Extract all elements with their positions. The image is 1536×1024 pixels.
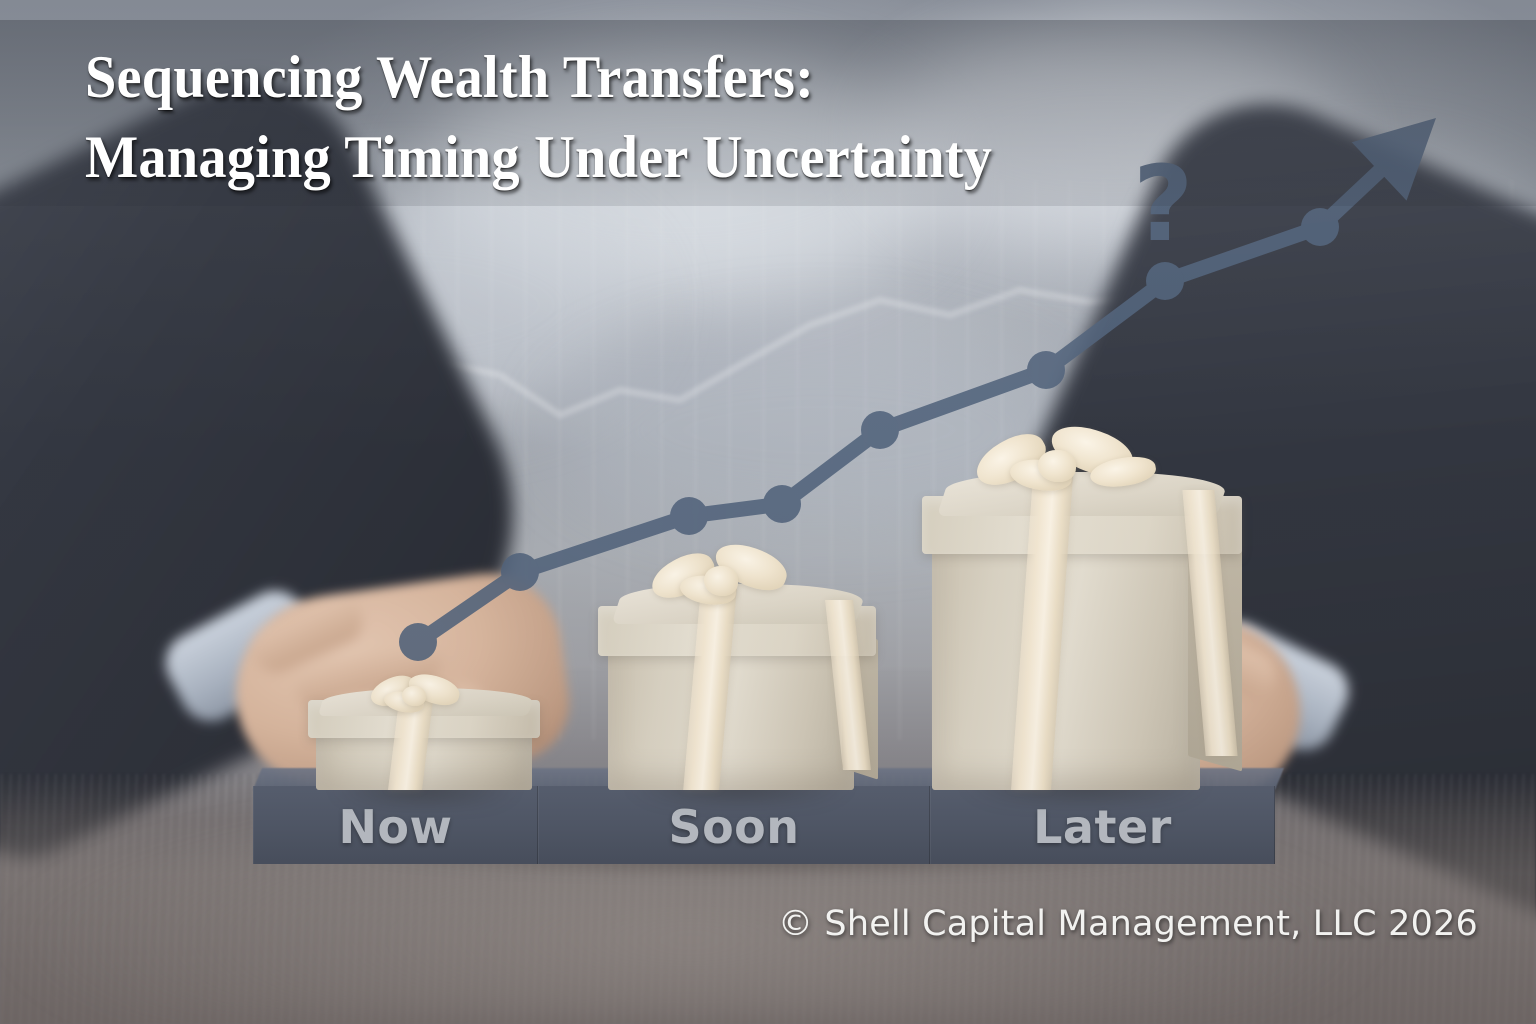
gift-body-medium xyxy=(608,640,854,790)
infographic-canvas: Now Soon Later xyxy=(0,0,1536,1024)
gift-box-medium xyxy=(596,548,878,790)
step-label-soon: Soon xyxy=(668,800,799,854)
step-label-now: Now xyxy=(338,800,452,854)
step-label-later: Later xyxy=(1033,800,1172,854)
gift-bow-knot-small xyxy=(402,686,426,706)
question-mark-icon: ? xyxy=(1133,152,1193,256)
gift-box-large xyxy=(922,428,1244,790)
gift-bow-knot-large xyxy=(1038,450,1076,482)
page-title: Sequencing Wealth Transfers: Managing Ti… xyxy=(85,38,1072,198)
gift-bow-knot-medium xyxy=(704,566,738,596)
copyright-notice: © Shell Capital Management, LLC 2026 xyxy=(778,904,1478,944)
gift-box-small xyxy=(308,676,540,790)
